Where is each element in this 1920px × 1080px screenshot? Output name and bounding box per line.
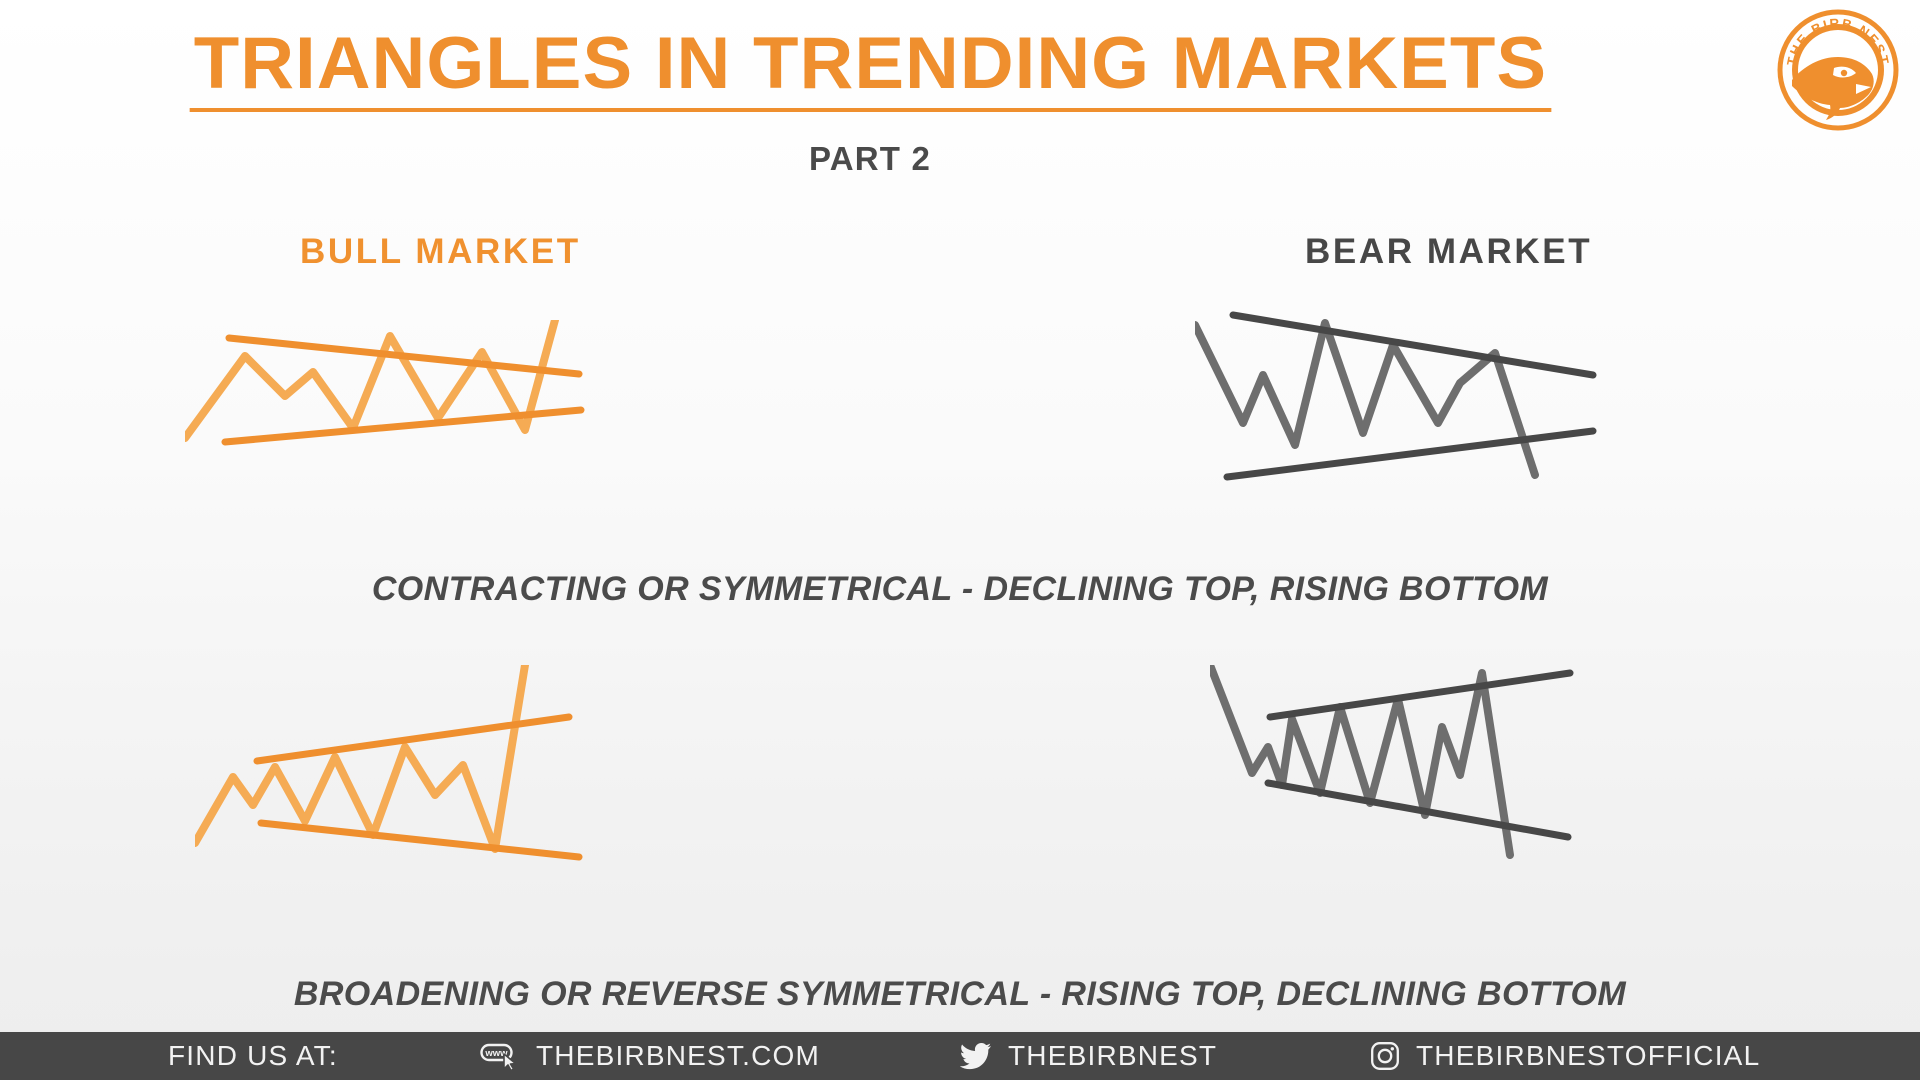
twitter-icon — [960, 1042, 992, 1070]
price-path — [195, 665, 525, 849]
page-subtitle: PART 2 — [0, 140, 1740, 178]
caption-contracting: CONTRACTING OR SYMMETRICAL - DECLINING T… — [0, 570, 1920, 609]
footer-find-us-block: FIND US AT: — [168, 1040, 338, 1072]
chart-bear-broadening — [1210, 665, 1600, 880]
page-title: TRIANGLES IN TRENDING MARKETS — [189, 26, 1550, 112]
column-heading-bear: BEAR MARKET — [1305, 232, 1592, 272]
trendline-upper-resistance — [1270, 673, 1570, 717]
trendline-lower-support — [1227, 431, 1593, 477]
caption-broadening: BROADENING OR REVERSE SYMMETRICAL - RISI… — [0, 975, 1920, 1014]
footer-instagram-text: THEBIRBNESTOFFICIAL — [1416, 1040, 1760, 1072]
infographic-page: TRIANGLES IN TRENDING MARKETS PART 2 THE… — [0, 0, 1920, 1080]
www-browser-icon: www — [480, 1041, 520, 1071]
footer-instagram-item[interactable]: THEBIRBNESTOFFICIAL — [1370, 1040, 1760, 1072]
trendline-upper-resistance — [229, 338, 579, 374]
instagram-icon — [1370, 1041, 1400, 1071]
footer-website-item[interactable]: www THEBIRBNEST.COM — [480, 1040, 820, 1072]
title-block: TRIANGLES IN TRENDING MARKETS — [0, 26, 1740, 112]
trendline-lower-support — [261, 823, 579, 857]
footer-website-text: THEBIRBNEST.COM — [536, 1040, 820, 1072]
the-birb-nest-logo: THE BIRB NEST — [1776, 8, 1900, 132]
chart-bull-broadening — [195, 665, 595, 880]
footer-find-us-label: FIND US AT: — [168, 1040, 338, 1072]
column-heading-bull: BULL MARKET — [300, 232, 581, 272]
footer-bar: FIND US AT: www THEBIRBNEST.COM THEBIRBN… — [0, 1032, 1920, 1080]
chart-bear-contracting — [1195, 305, 1615, 510]
footer-twitter-text: THEBIRBNEST — [1008, 1040, 1217, 1072]
footer-twitter-item[interactable]: THEBIRBNEST — [960, 1040, 1217, 1072]
chart-bull-contracting — [185, 320, 605, 475]
price-path — [1210, 665, 1510, 855]
price-path — [1195, 323, 1535, 475]
trendline-upper-resistance — [1233, 315, 1593, 375]
